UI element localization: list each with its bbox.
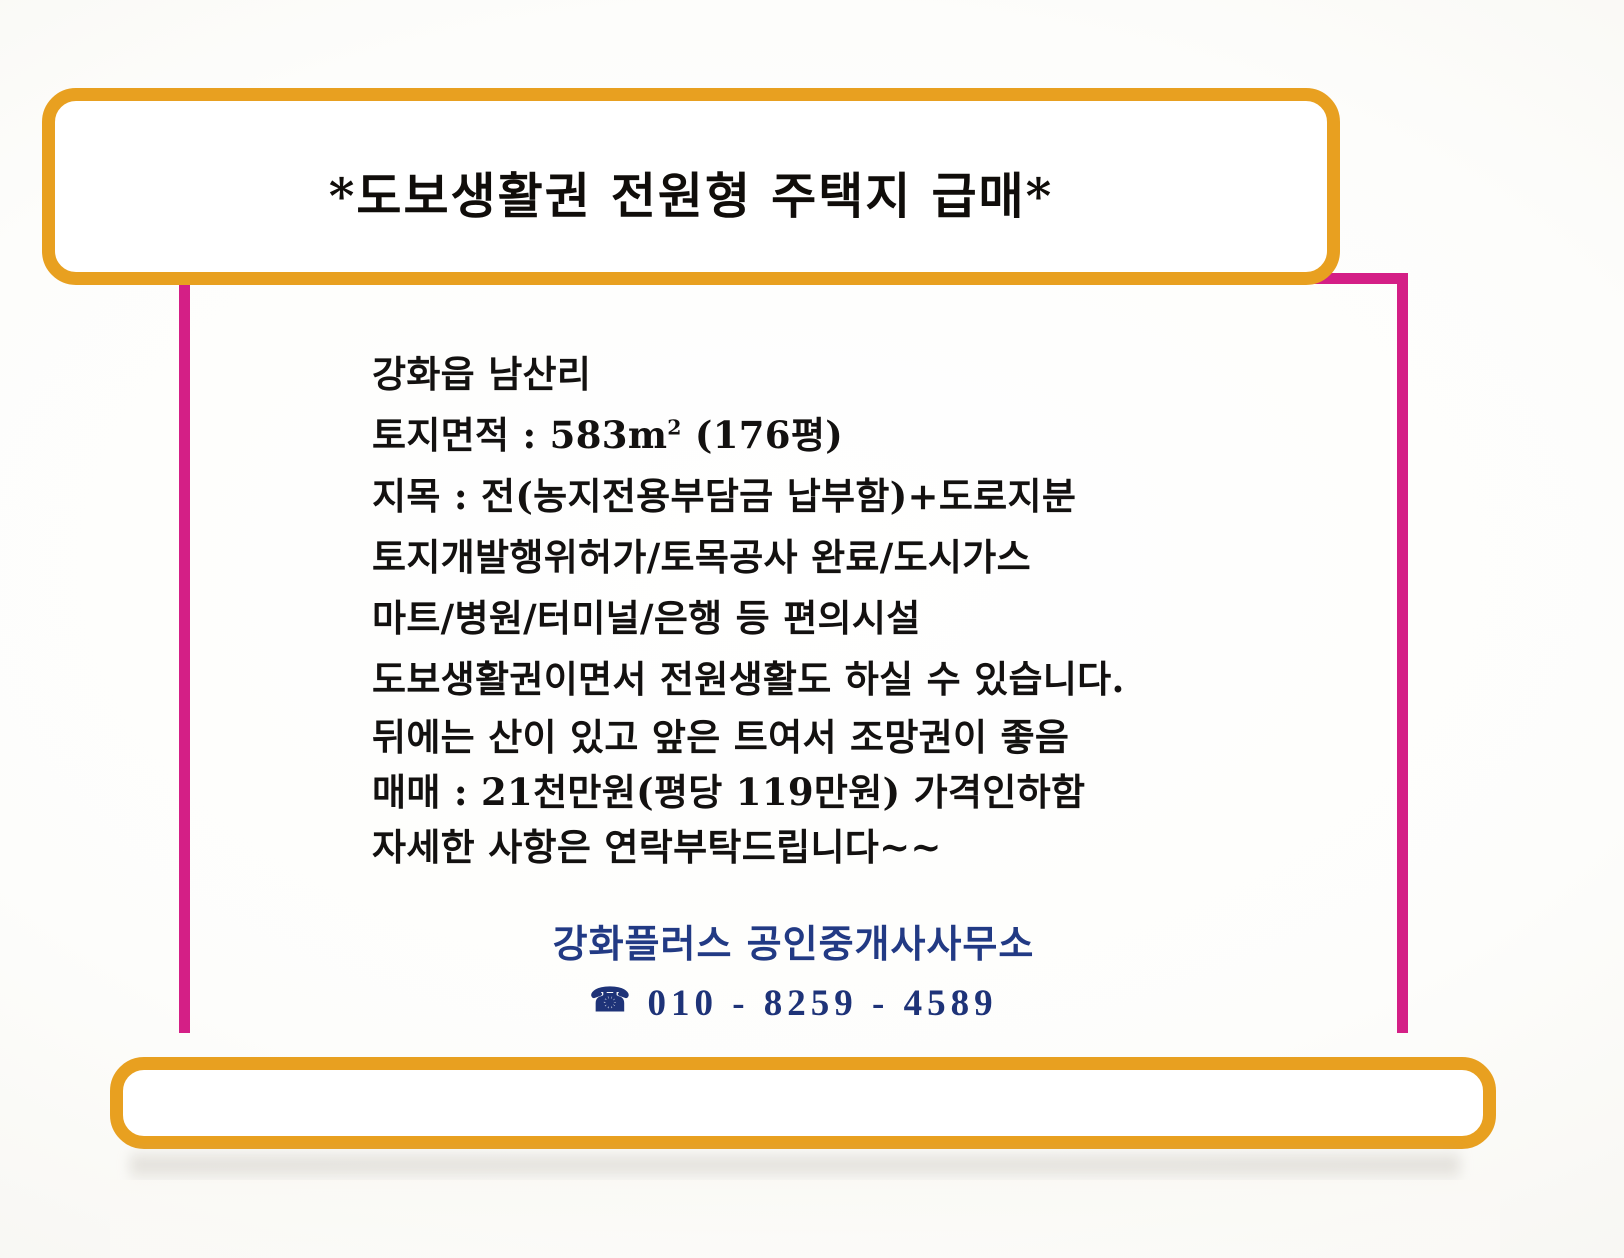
scan-shadow-fade	[110, 1180, 1500, 1258]
phone-row: ☎ 010 - 8259 - 4589	[179, 982, 1408, 1025]
listing-closing: 자세한 사항은 연락부탁드립니다~~	[372, 820, 1252, 875]
scan-shadow	[130, 1148, 1460, 1182]
listing-location: 강화읍 남산리	[372, 344, 1252, 405]
land-area-superscript: 2	[667, 416, 681, 440]
agency-name: 강화플러스 공인중개사사무소	[179, 918, 1408, 970]
listing-permits: 토지개발행위허가/토목공사 완료/도시가스	[372, 527, 1252, 588]
title-banner: *도보생활권 전원형 주택지 급매*	[42, 88, 1340, 285]
listing-details: 강화읍 남산리 토지면적 : 583m2 (176평) 지목 : 전(농지전용부…	[372, 344, 1252, 875]
land-area-prefix: 토지면적 : 583m	[372, 413, 667, 457]
land-area-suffix: (176평)	[682, 413, 843, 457]
flyer-page: *도보생활권 전원형 주택지 급매* 강화읍 남산리 토지면적 : 583m2 …	[0, 0, 1624, 1258]
listing-price: 매매 : 21천만원(평당 119만원) 가격인하함	[372, 765, 1252, 820]
phone-number: 010 - 8259 - 4589	[647, 982, 997, 1025]
listing-amenities: 마트/병원/터미널/은행 등 편의시설	[372, 588, 1252, 649]
listing-land-area: 토지면적 : 583m2 (176평)	[372, 405, 1252, 466]
orange-footer-frame	[110, 1057, 1496, 1149]
page-title: *도보생활권 전원형 주택지 급매*	[329, 157, 1053, 228]
listing-land-category: 지목 : 전(농지전용부담금 납부함)+도로지분	[372, 466, 1252, 527]
telephone-icon: ☎	[589, 985, 633, 1018]
listing-view: 뒤에는 산이 있고 앞은 트여서 조망권이 좋음	[372, 710, 1252, 765]
contact-block: 강화플러스 공인중개사사무소 ☎ 010 - 8259 - 4589	[179, 918, 1408, 1025]
listing-lifestyle: 도보생활권이면서 전원생활도 하실 수 있습니다.	[372, 649, 1252, 710]
